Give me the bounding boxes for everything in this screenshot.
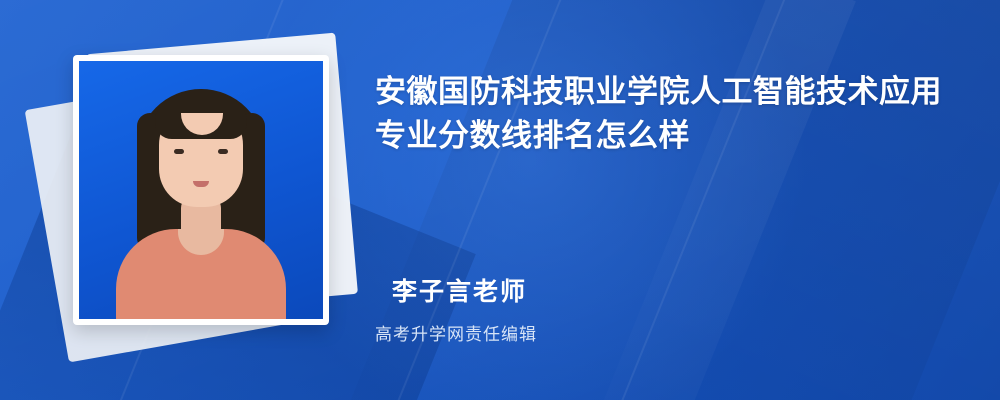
portrait-fringe bbox=[155, 95, 247, 139]
photo-stack bbox=[45, 35, 355, 365]
text-block: 安徽国防科技职业学院人工智能技术应用专业分数线排名怎么样 bbox=[375, 70, 960, 158]
portrait-hair-right bbox=[239, 113, 265, 251]
photo-card-front bbox=[73, 55, 329, 325]
promo-banner: 安徽国防科技职业学院人工智能技术应用专业分数线排名怎么样 李子言老师 高考升学网… bbox=[0, 0, 1000, 400]
portrait-eye-right bbox=[218, 149, 228, 154]
portrait-eye-left bbox=[174, 149, 184, 154]
portrait-image bbox=[79, 61, 323, 319]
portrait-body bbox=[116, 229, 286, 319]
headline: 安徽国防科技职业学院人工智能技术应用专业分数线排名怎么样 bbox=[375, 70, 960, 158]
author-name: 李子言老师 bbox=[392, 272, 527, 308]
author-role: 高考升学网责任编辑 bbox=[375, 320, 537, 345]
